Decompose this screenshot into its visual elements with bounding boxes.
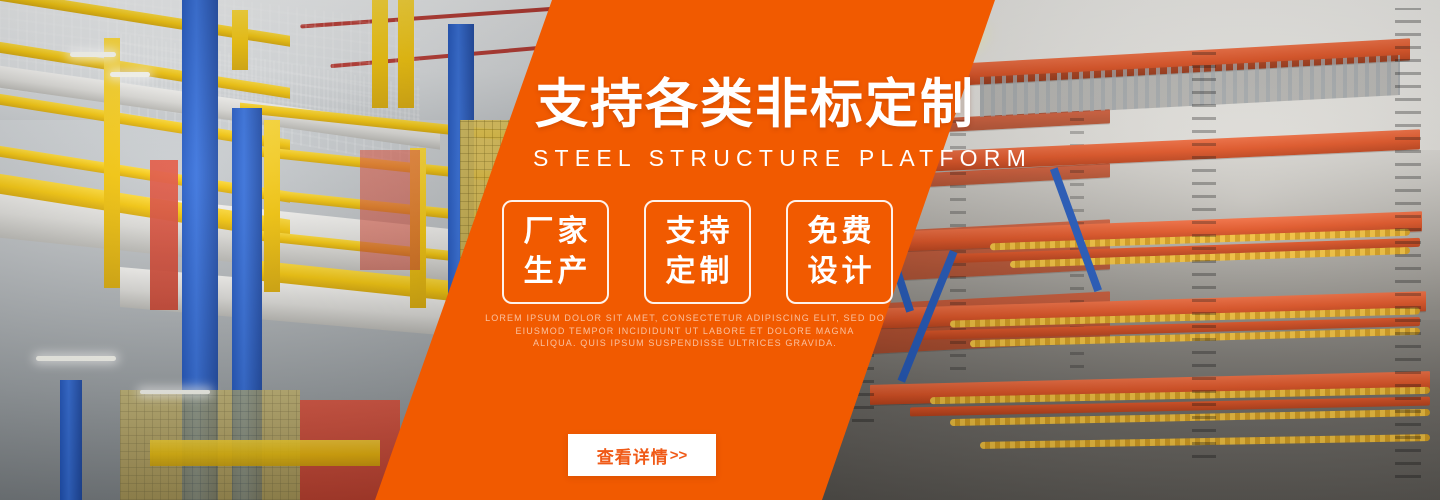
feature-tag-list: 厂家 生产 支持 定制 免费 设计 [502,200,893,304]
feature-tag-manufacturer: 厂家 生产 [502,200,609,304]
feature-tag-line2: 设计 [804,252,876,292]
feature-tag-line1: 免费 [804,212,876,252]
feature-tag-line2: 生产 [520,252,592,292]
feature-tag-free-design: 免费 设计 [786,200,893,304]
page-title: 支持各类非标定制 [535,76,975,134]
description-line-1: LOREM IPSUM DOLOR SIT AMET, CONSECTETUR … [465,312,905,325]
promo-banner: 支持各类非标定制 STEEL STRUCTURE PLATFORM 厂家 生产 … [0,0,1440,500]
banner-content: 支持各类非标定制 STEEL STRUCTURE PLATFORM 厂家 生产 … [0,0,1440,500]
chevron-right-icon: >> [670,447,688,464]
subtitle: STEEL STRUCTURE PLATFORM [533,145,1032,171]
view-details-button[interactable]: 查看详情 >> [568,434,716,476]
description-line-3: ALIQUA. QUIS IPSUM SUSPENDISSE ULTRICES … [465,337,905,350]
description-line-2: EIUSMOD TEMPOR INCIDIDUNT UT LABORE ET D… [465,325,905,338]
feature-tag-customization: 支持 定制 [644,200,751,304]
view-details-label: 查看详情 [597,443,669,468]
feature-tag-line1: 支持 [662,212,734,252]
description-text: LOREM IPSUM DOLOR SIT AMET, CONSECTETUR … [465,312,905,350]
feature-tag-line1: 厂家 [520,212,592,252]
feature-tag-line2: 定制 [662,252,734,292]
